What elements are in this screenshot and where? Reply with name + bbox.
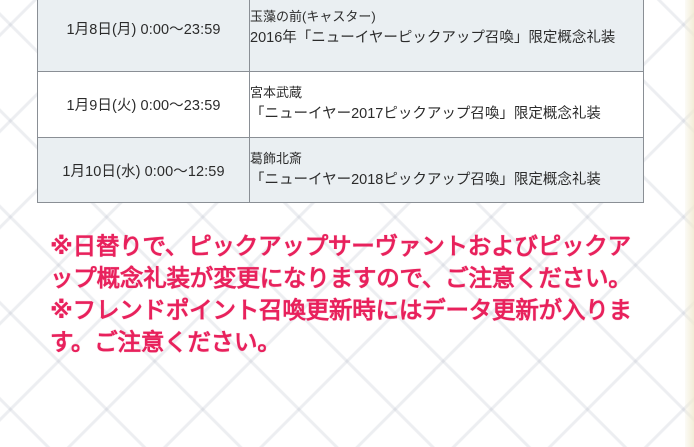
pickup-craft-essence: 2016年「ニューイヤーピックアップ召喚」限定概念礼装 (250, 27, 643, 50)
schedule-detail-cell: 宮本武蔵 「ニューイヤー2017ピックアップ召喚」限定概念礼装 (250, 72, 644, 138)
schedule-date-cell: 1月9日(火) 0:00〜23:59 (38, 72, 250, 138)
pickup-schedule-table: 1月8日(月) 0:00〜23:59 玉藻の前(キャスター) 2016年「ニュー… (37, 0, 644, 203)
table-row: 1月8日(月) 0:00〜23:59 玉藻の前(キャスター) 2016年「ニュー… (38, 0, 644, 72)
notice-line-2: ※フレンドポイント召喚更新時にはデータ更新が入ります。ご注意ください。 (50, 295, 650, 358)
table-row: 1月10日(水) 0:00〜12:59 葛飾北斎 「ニューイヤー2018ピックア… (38, 138, 644, 203)
pickup-servant-name: 葛飾北斎 (250, 148, 643, 169)
pickup-craft-essence: 「ニューイヤー2017ピックアップ召喚」限定概念礼装 (250, 103, 643, 126)
pickup-servant-name: 宮本武蔵 (250, 82, 643, 103)
pickup-craft-essence: 「ニューイヤー2018ピックアップ召喚」限定概念礼装 (250, 169, 643, 192)
schedule-date-cell: 1月8日(月) 0:00〜23:59 (38, 0, 250, 72)
notice-block: ※日替りで、ピックアップサーヴァントおよびピックアップ概念礼装が変更になりますの… (50, 231, 650, 359)
schedule-date-cell: 1月10日(水) 0:00〜12:59 (38, 138, 250, 203)
schedule-table-body: 1月8日(月) 0:00〜23:59 玉藻の前(キャスター) 2016年「ニュー… (38, 0, 644, 203)
notice-line-1: ※日替りで、ピックアップサーヴァントおよびピックアップ概念礼装が変更になりますの… (50, 231, 650, 294)
schedule-detail-cell: 玉藻の前(キャスター) 2016年「ニューイヤーピックアップ召喚」限定概念礼装 (250, 0, 644, 72)
pickup-servant-name: 玉藻の前(キャスター) (250, 6, 643, 27)
page-content: 1月8日(月) 0:00〜23:59 玉藻の前(キャスター) 2016年「ニュー… (0, 0, 694, 447)
schedule-detail-cell: 葛飾北斎 「ニューイヤー2018ピックアップ召喚」限定概念礼装 (250, 138, 644, 203)
table-row: 1月9日(火) 0:00〜23:59 宮本武蔵 「ニューイヤー2017ピックアッ… (38, 72, 644, 138)
